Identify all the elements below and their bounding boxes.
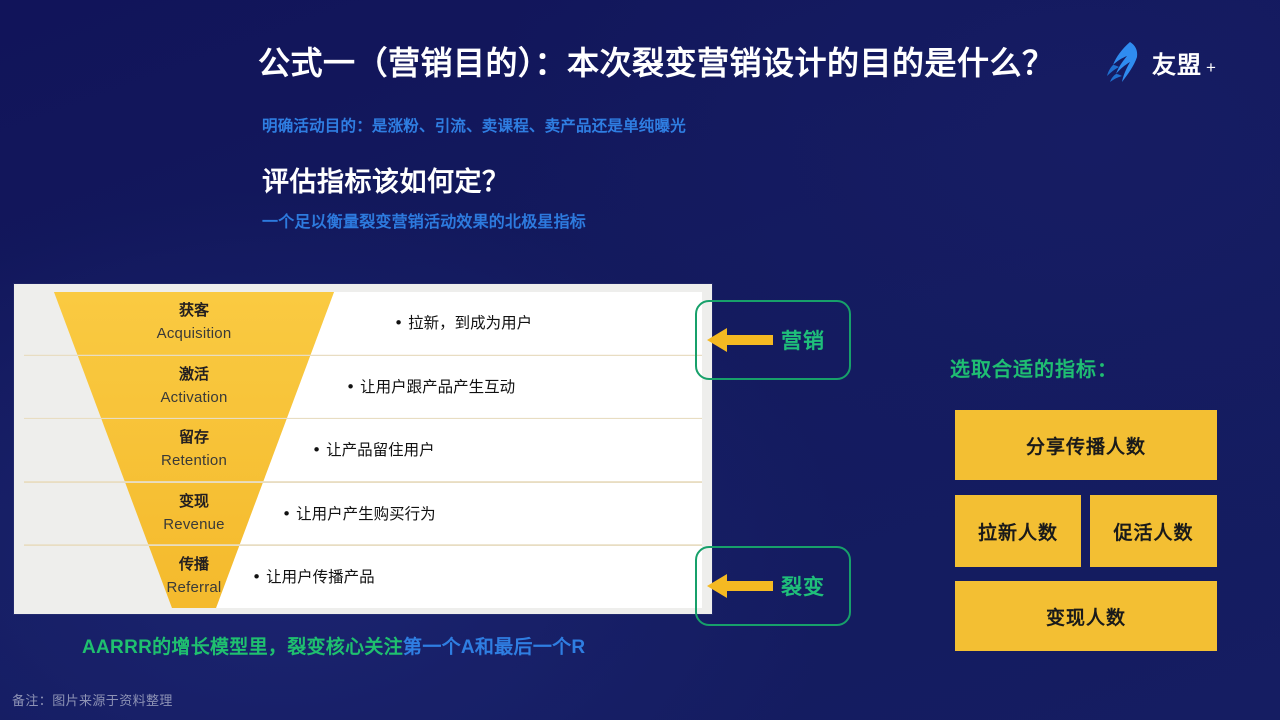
caption-green-text: AARRR的增长模型里，裂变核心关注	[82, 637, 403, 658]
funnel-row: 变现 Revenue • 让用户产生购买行为	[24, 482, 702, 545]
funnel-stage-zh: 获客	[44, 299, 344, 320]
metrics-panel-title: 选取合适的指标：	[950, 353, 1118, 382]
subtitle-purpose: 明确活动目的：是涨粉、引流、卖课程、卖产品还是单纯曝光	[262, 114, 1022, 136]
callout-label: 裂变	[781, 571, 825, 601]
section-heading-metrics: 评估指标该如何定？	[262, 160, 510, 199]
funnel-stage-zh: 激活	[44, 363, 344, 384]
funnel-stage-zh: 留存	[44, 426, 344, 447]
funnel-stage-en: Retention	[44, 452, 344, 469]
funnel-row: 传播 Referral • 让用户传播产品	[24, 545, 702, 608]
left-arrow-icon	[707, 572, 773, 600]
logo-name: 友盟	[1152, 45, 1202, 80]
footnote: 备注：图片来源于资料整理	[12, 690, 173, 709]
umeng-bird-icon	[1104, 40, 1144, 84]
brand-logo: 友盟 +	[1104, 40, 1217, 84]
metric-box-share[interactable]: 分享传播人数	[955, 410, 1217, 480]
subtitle-north-star: 一个足以衡量裂变营销活动效果的北极星指标	[262, 208, 586, 232]
callout-marketing[interactable]: 营销	[695, 300, 851, 380]
funnel-stage-en: Acquisition	[44, 325, 344, 342]
logo-wordmark: 友盟 +	[1152, 45, 1217, 80]
funnel-row-desc: • 让用户传播产品	[252, 565, 375, 587]
page-title: 公式一（营销目的）：本次裂变营销设计的目的是什么？	[258, 44, 1088, 82]
funnel-stage-labels: 激活 Activation	[44, 356, 344, 419]
logo-plus: +	[1206, 58, 1217, 78]
funnel-rows: 获客 Acquisition • 拉新，到成为用户 激活 Activation …	[24, 292, 702, 608]
caption-blue-text: 第一个A和最后一个R	[403, 637, 585, 658]
funnel-inner: 获客 Acquisition • 拉新，到成为用户 激活 Activation …	[24, 292, 702, 608]
funnel-caption: AARRR的增长模型里，裂变核心关注第一个A和最后一个R	[82, 632, 585, 659]
funnel-stage-labels: 获客 Acquisition	[44, 292, 344, 355]
funnel-row: 获客 Acquisition • 拉新，到成为用户	[24, 292, 702, 355]
metric-box-revenue[interactable]: 变现人数	[955, 581, 1217, 651]
metric-box-activation[interactable]: 促活人数	[1090, 495, 1217, 567]
funnel-row-desc: • 让用户跟产品产生互动	[346, 375, 515, 397]
slide-canvas: 公式一（营销目的）：本次裂变营销设计的目的是什么？ 明确活动目的：是涨粉、引流、…	[0, 0, 1280, 720]
funnel-row-desc: • 让用户产生购买行为	[282, 502, 436, 524]
funnel-row-desc: • 拉新，到成为用户	[394, 311, 532, 333]
left-arrow-icon	[707, 326, 773, 354]
funnel-row: 激活 Activation • 让用户跟产品产生互动	[24, 355, 702, 418]
callout-fission[interactable]: 裂变	[695, 546, 851, 626]
funnel-row-desc: • 让产品留住用户	[312, 438, 435, 460]
funnel-stage-en: Activation	[44, 389, 344, 406]
aarrr-funnel-image: 获客 Acquisition • 拉新，到成为用户 激活 Activation …	[14, 284, 712, 614]
callout-label: 营销	[781, 325, 825, 355]
funnel-stage-labels: 留存 Retention	[44, 419, 344, 482]
funnel-row: 留存 Retention • 让产品留住用户	[24, 418, 702, 481]
metric-box-acquisition[interactable]: 拉新人数	[955, 495, 1081, 567]
